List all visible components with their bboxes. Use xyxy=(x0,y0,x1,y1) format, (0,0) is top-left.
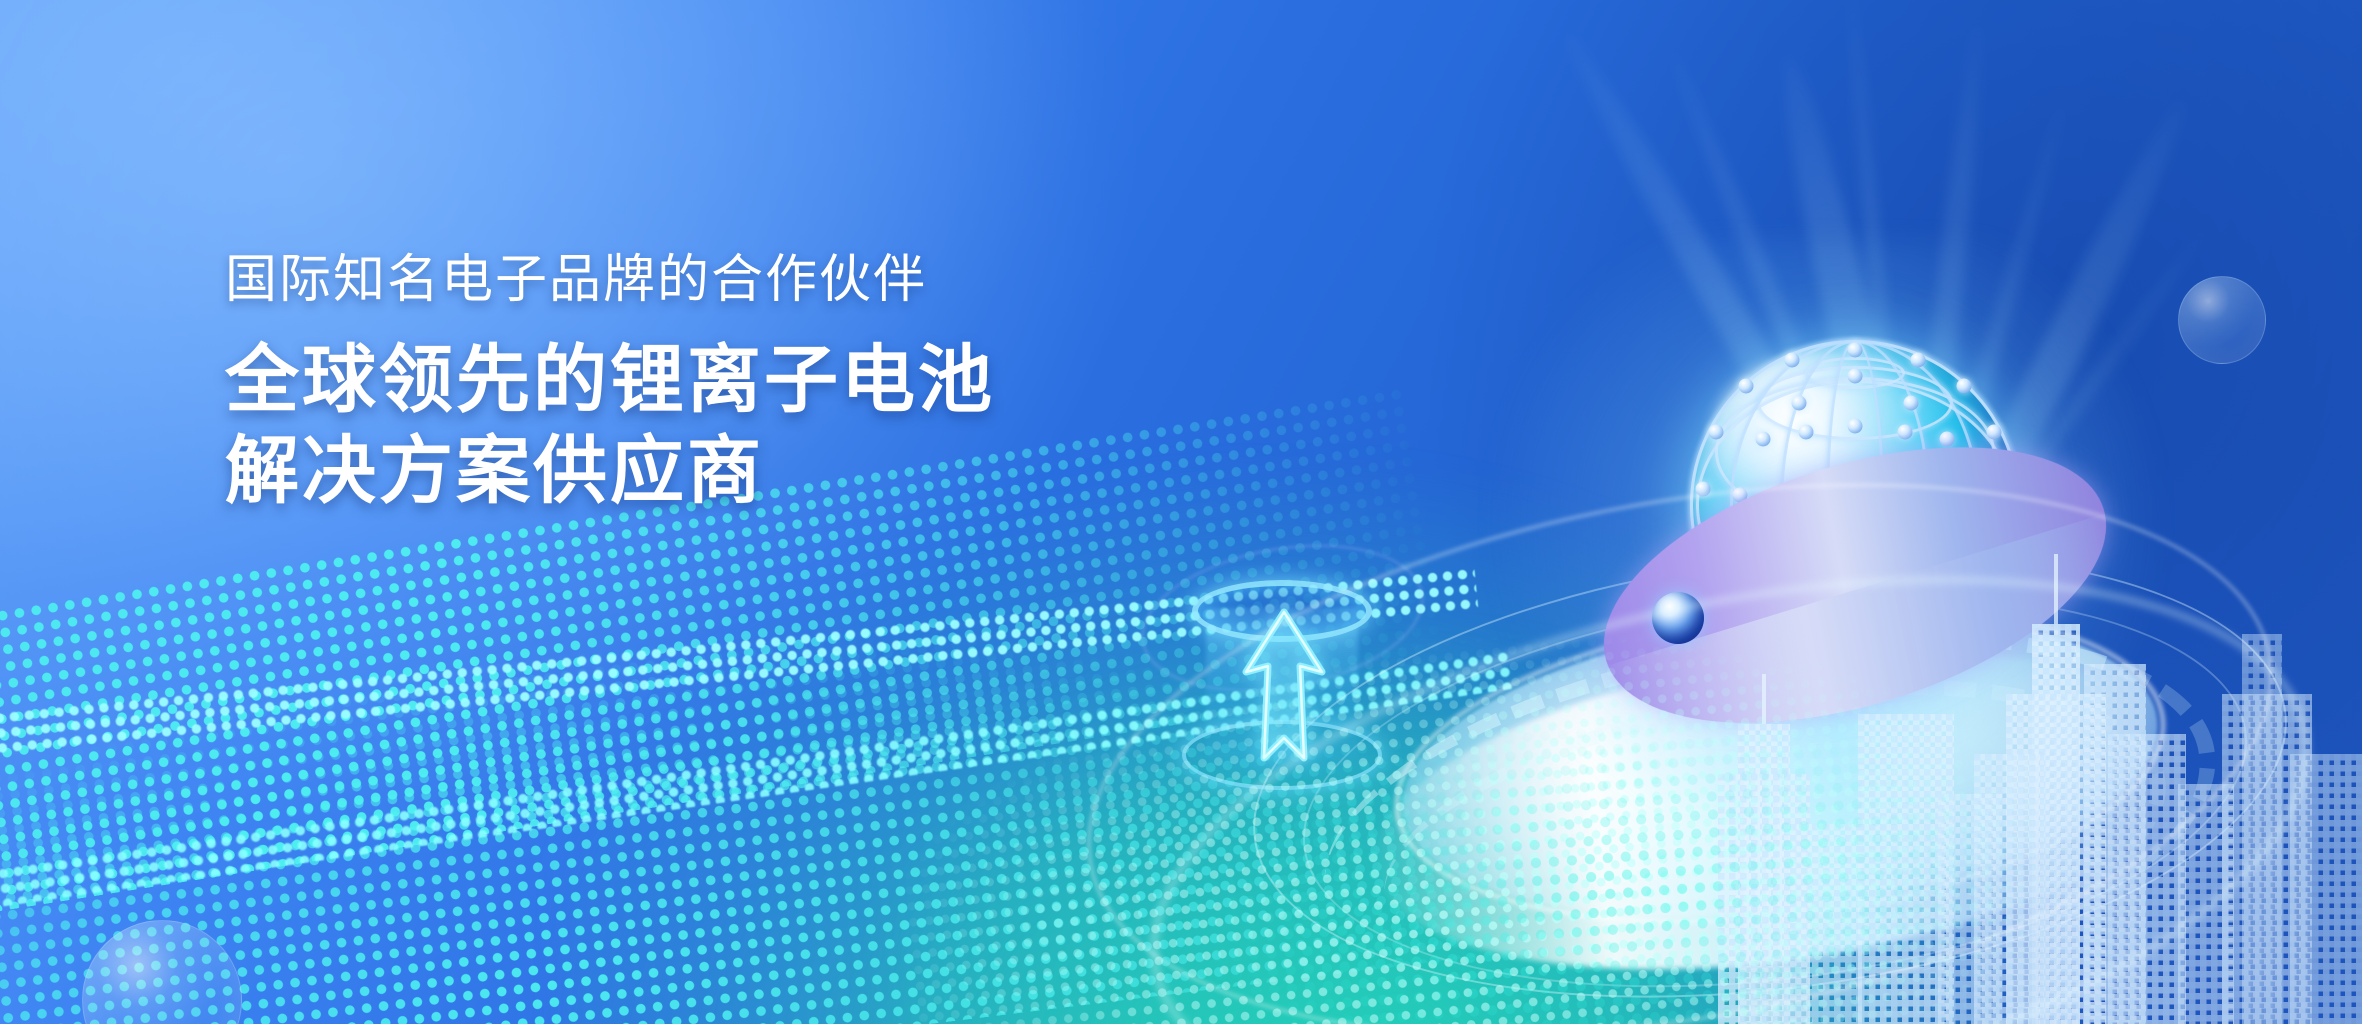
wireframe-globe xyxy=(1560,300,2120,840)
glass-bubble-bottom-left xyxy=(82,920,242,1024)
banner-copy: 国际知名电子品牌的合作伙伴 全球领先的锂离子电池 解决方案供应商 xyxy=(225,250,1225,516)
orbital-ring-node-sphere xyxy=(1652,592,1704,644)
banner-subtitle: 国际知名电子品牌的合作伙伴 xyxy=(225,250,1225,311)
banner-title: 全球领先的锂离子电池 解决方案供应商 xyxy=(225,335,1225,516)
upward-arrow-portal xyxy=(1180,580,1390,810)
banner-title-line-1: 全球领先的锂离子电池 xyxy=(225,335,1225,425)
hero-banner: 国际知名电子品牌的合作伙伴 全球领先的锂离子电池 解决方案供应商 xyxy=(0,0,2362,1024)
glass-bubble-top-right xyxy=(2178,276,2266,364)
banner-title-line-2: 解决方案供应商 xyxy=(225,426,1225,516)
up-arrow-icon xyxy=(1238,606,1330,776)
